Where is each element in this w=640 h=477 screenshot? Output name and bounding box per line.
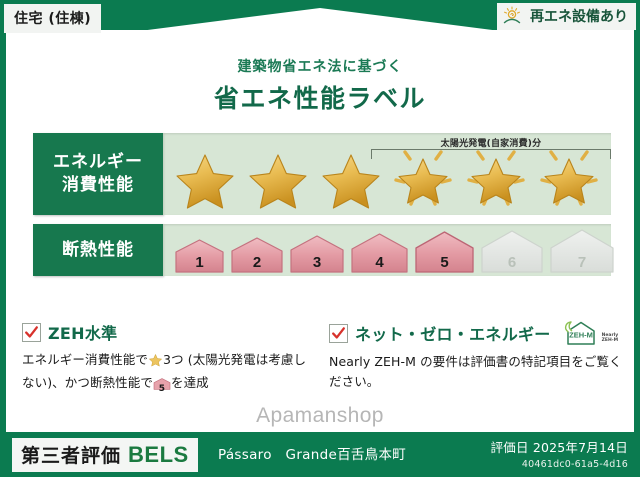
insulation-level-number: 1	[173, 254, 226, 271]
energy-performance-row: エネルギー 消費性能 太陽光発電(自家消費)分	[33, 133, 611, 215]
zeh-m-house-icon: ZEH-M	[562, 320, 600, 346]
star-icon	[244, 147, 312, 209]
check-icon	[331, 326, 346, 341]
zeh-m-badge: ZEH-M Nearly ZEH-M	[562, 320, 619, 346]
property-name: Pássaro Grande百舌鳥本町	[218, 443, 406, 463]
check-icon	[24, 325, 39, 340]
inline-house-number: 5	[153, 382, 171, 397]
criterion-net-zero-energy: ネット・ゼロ・エネルギー ZEH-M Nearly ZEH-M Nearly Z…	[329, 320, 622, 398]
insulation-level-4: 4	[349, 232, 410, 274]
insulation-level-6: 6	[479, 229, 545, 274]
nze-description: Nearly ZEH-M の要件は評価書の特記項目をご覧ください。	[329, 352, 622, 393]
insulation-level-5: 5	[413, 230, 476, 274]
energy-stars-panel: 太陽光発電(自家消費)分	[163, 133, 611, 215]
insulation-houses-panel: 1 2 3	[163, 224, 611, 276]
criterion-zeh-standard: ZEH水準 エネルギー消費性能で 3つ (太陽光発電は考慮しない)、かつ断熱性能…	[22, 320, 315, 398]
insulation-level-1: 1	[173, 238, 226, 274]
star-rating-strip	[171, 147, 603, 209]
insulation-performance-row: 断熱性能 1	[33, 224, 611, 276]
star-plain	[171, 147, 239, 209]
inline-house-icon: 5	[153, 377, 171, 397]
housing-type-badge: 住宅 (住棟)	[4, 4, 101, 33]
watermark: Apamanshop	[0, 404, 640, 428]
energy-performance-label-box: エネルギー 消費性能	[33, 133, 163, 215]
energy-label-line1: エネルギー	[53, 151, 143, 174]
label-title-block: 建築物省エネ法に基づく 省エネ性能ラベル	[0, 56, 640, 115]
insulation-label: 断熱性能	[62, 239, 134, 262]
footer-meta: 評価日 2025年7月14日 40461dc0-61a5-4d16	[491, 437, 628, 470]
insulation-level-7: 7	[548, 228, 616, 274]
sun-icon-svg	[503, 6, 525, 26]
bels-logo: 第三者評価 BELS	[12, 438, 198, 472]
star-icon	[317, 147, 385, 209]
zeh-checkbox[interactable]	[22, 323, 41, 342]
star-sparkle-icon	[389, 147, 457, 209]
star-icon	[171, 147, 239, 209]
title-main: 省エネ性能ラベル	[0, 79, 640, 115]
insulation-level-number: 4	[349, 254, 410, 271]
sun-icon	[503, 6, 525, 26]
energy-label-line2: 消費性能	[62, 174, 134, 197]
nze-title: ネット・ゼロ・エネルギー	[355, 321, 551, 345]
insulation-level-number: 3	[288, 254, 346, 271]
star-plain	[317, 147, 385, 209]
star-solar	[389, 147, 457, 209]
bels-en-label: BELS	[128, 442, 189, 468]
insulation-level-number: 6	[479, 254, 545, 271]
ratings-container: エネルギー 消費性能 太陽光発電(自家消費)分	[33, 133, 611, 285]
inline-star-icon	[148, 352, 163, 373]
insulation-level-2: 2	[229, 236, 285, 274]
star-plain	[244, 147, 312, 209]
star-solar	[535, 147, 603, 209]
insulation-level-strip: 1 2 3	[173, 228, 603, 274]
energy-performance-label: 住宅 (住棟) 再エネ設備あり 建築物省エネ法に基づく 省エネ性能ラベル	[0, 0, 640, 477]
zeh-desc-post: を達成	[171, 375, 209, 390]
insulation-level-number: 7	[548, 254, 616, 271]
zeh-m-caption-line2: ZEH-M	[602, 338, 618, 343]
zeh-description: エネルギー消費性能で 3つ (太陽光発電は考慮しない)、かつ断熱性能で 5を達成	[22, 350, 315, 398]
footer-bar: 第三者評価 BELS Pássaro Grande百舌鳥本町 評価日 2025年…	[0, 432, 640, 477]
svg-text:ZEH-M: ZEH-M	[569, 331, 593, 340]
criteria-container: ZEH水準 エネルギー消費性能で 3つ (太陽光発電は考慮しない)、かつ断熱性能…	[22, 320, 622, 398]
star-sparkle-icon	[535, 147, 603, 209]
star-icon	[148, 352, 163, 367]
title-subtitle: 建築物省エネ法に基づく	[0, 56, 640, 76]
zeh-m-caption-line1: Nearly	[602, 333, 619, 338]
criterion-zeh-header: ZEH水準	[22, 320, 315, 344]
renewable-badge-label: 再エネ設備あり	[530, 6, 628, 26]
nze-checkbox[interactable]	[329, 324, 348, 343]
insulation-level-number: 5	[413, 254, 476, 271]
zeh-m-badge-caption: Nearly ZEH-M	[602, 333, 619, 346]
insulation-label-box: 断熱性能	[33, 224, 163, 276]
evaluation-date: 評価日 2025年7月14日	[491, 437, 628, 456]
renewable-equipment-badge: 再エネ設備あり	[497, 3, 636, 30]
evaluation-id: 40461dc0-61a5-4d16	[491, 459, 628, 470]
bels-jp-label: 第三者評価	[21, 441, 121, 468]
zeh-desc-pre: エネルギー消費性能で	[22, 352, 148, 367]
criterion-nze-header: ネット・ゼロ・エネルギー ZEH-M Nearly ZEH-M	[329, 320, 622, 346]
star-sparkle-icon	[462, 147, 530, 209]
insulation-level-number: 2	[229, 254, 285, 271]
insulation-level-3: 3	[288, 234, 346, 274]
star-solar	[462, 147, 530, 209]
zeh-title: ZEH水準	[48, 320, 117, 344]
